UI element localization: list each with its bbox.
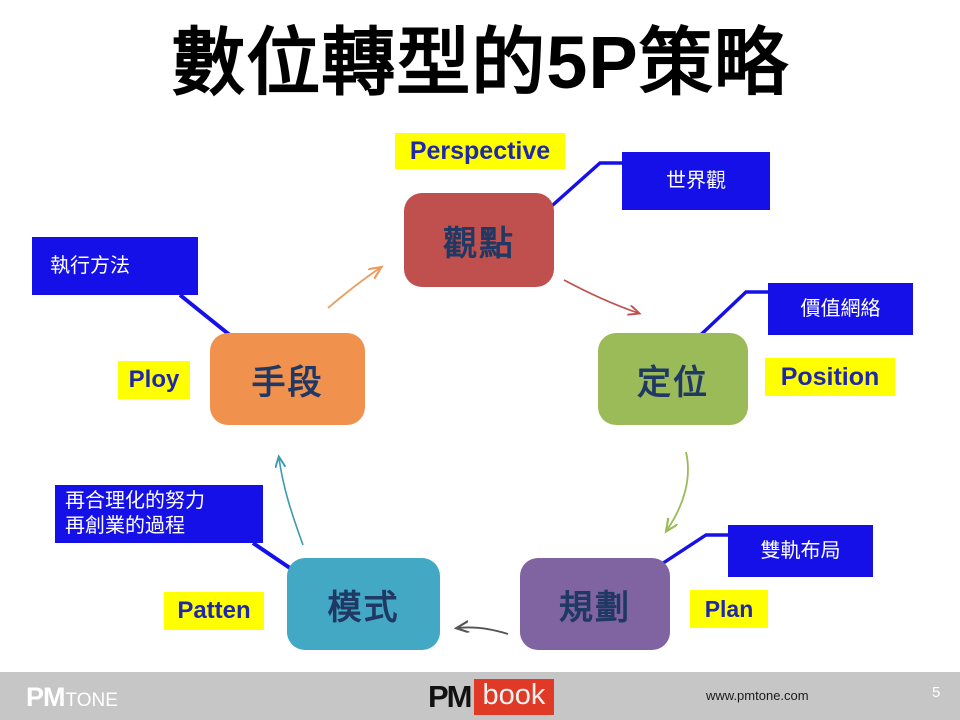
callout-execution-method: 執行方法 (32, 237, 198, 295)
callout-value-network-label: 價值網絡 (801, 297, 881, 322)
pmtone-logo-pm: PM (26, 682, 65, 713)
cycle-arrow-patten-to-ploy (279, 458, 303, 545)
pmbook-logo[interactable]: PM book (428, 680, 554, 714)
footer-bar: PM TONE PM book www.pmtone.com 5 (0, 672, 960, 720)
node-perspective[interactable]: 觀點 (404, 193, 554, 287)
tag-patten-label: Patten (177, 597, 250, 625)
callout-world-view: 世界觀 (622, 152, 770, 210)
tag-ploy: Ploy (118, 361, 190, 399)
tag-ploy-label: Ploy (129, 366, 180, 394)
pmbook-logo-pm: PM (428, 679, 471, 715)
tag-patten: Patten (164, 592, 264, 630)
tag-position-label: Position (781, 363, 880, 392)
callout-dual-track-label: 雙軌布局 (761, 539, 841, 564)
pmtone-logo-tone: TONE (66, 690, 118, 712)
tag-plan: Plan (690, 590, 768, 628)
pmtone-logo[interactable]: PM TONE (26, 682, 118, 713)
callout-execution-method-label: 執行方法 (50, 254, 130, 279)
tag-perspective-label: Perspective (410, 137, 550, 166)
callout-value-network: 價值網絡 (768, 283, 913, 335)
cycle-arrow-perspective-to-position (564, 280, 638, 313)
pmbook-logo-book: book (474, 679, 555, 714)
tag-position: Position (765, 358, 895, 396)
cycle-arrow-ploy-to-perspective (328, 268, 380, 308)
tag-plan-label: Plan (705, 596, 754, 623)
node-perspective-label: 觀點 (443, 216, 515, 265)
node-position[interactable]: 定位 (598, 333, 748, 425)
node-position-label: 定位 (637, 355, 709, 404)
node-patten-label: 模式 (328, 580, 400, 629)
callout-dual-track: 雙軌布局 (728, 525, 873, 577)
callout-reengineering-line2: 再創業的過程 (65, 515, 185, 537)
callout-world-view-label: 世界觀 (666, 169, 726, 194)
node-ploy[interactable]: 手段 (210, 333, 365, 425)
tag-perspective: Perspective (395, 133, 565, 169)
node-plan[interactable]: 規劃 (520, 558, 670, 650)
callout-reengineering-line1: 再合理化的努力 (65, 490, 205, 512)
callout-reengineering-text: 再合理化的努力 再創業的過程 (65, 489, 205, 539)
node-ploy-label: 手段 (252, 355, 324, 404)
cycle-arrow-position-to-plan (667, 452, 688, 530)
page-title: 數位轉型的5P策略 (0, 22, 960, 103)
page-number: 5 (932, 684, 940, 701)
cycle-arrow-plan-to-patten (458, 627, 508, 634)
node-patten[interactable]: 模式 (287, 558, 440, 650)
footer-url[interactable]: www.pmtone.com (706, 688, 809, 703)
callout-reengineering: 再合理化的努力 再創業的過程 (55, 485, 263, 543)
node-plan-label: 規劃 (559, 580, 631, 629)
slide-canvas: 數位轉型的5P策略 (0, 0, 960, 720)
